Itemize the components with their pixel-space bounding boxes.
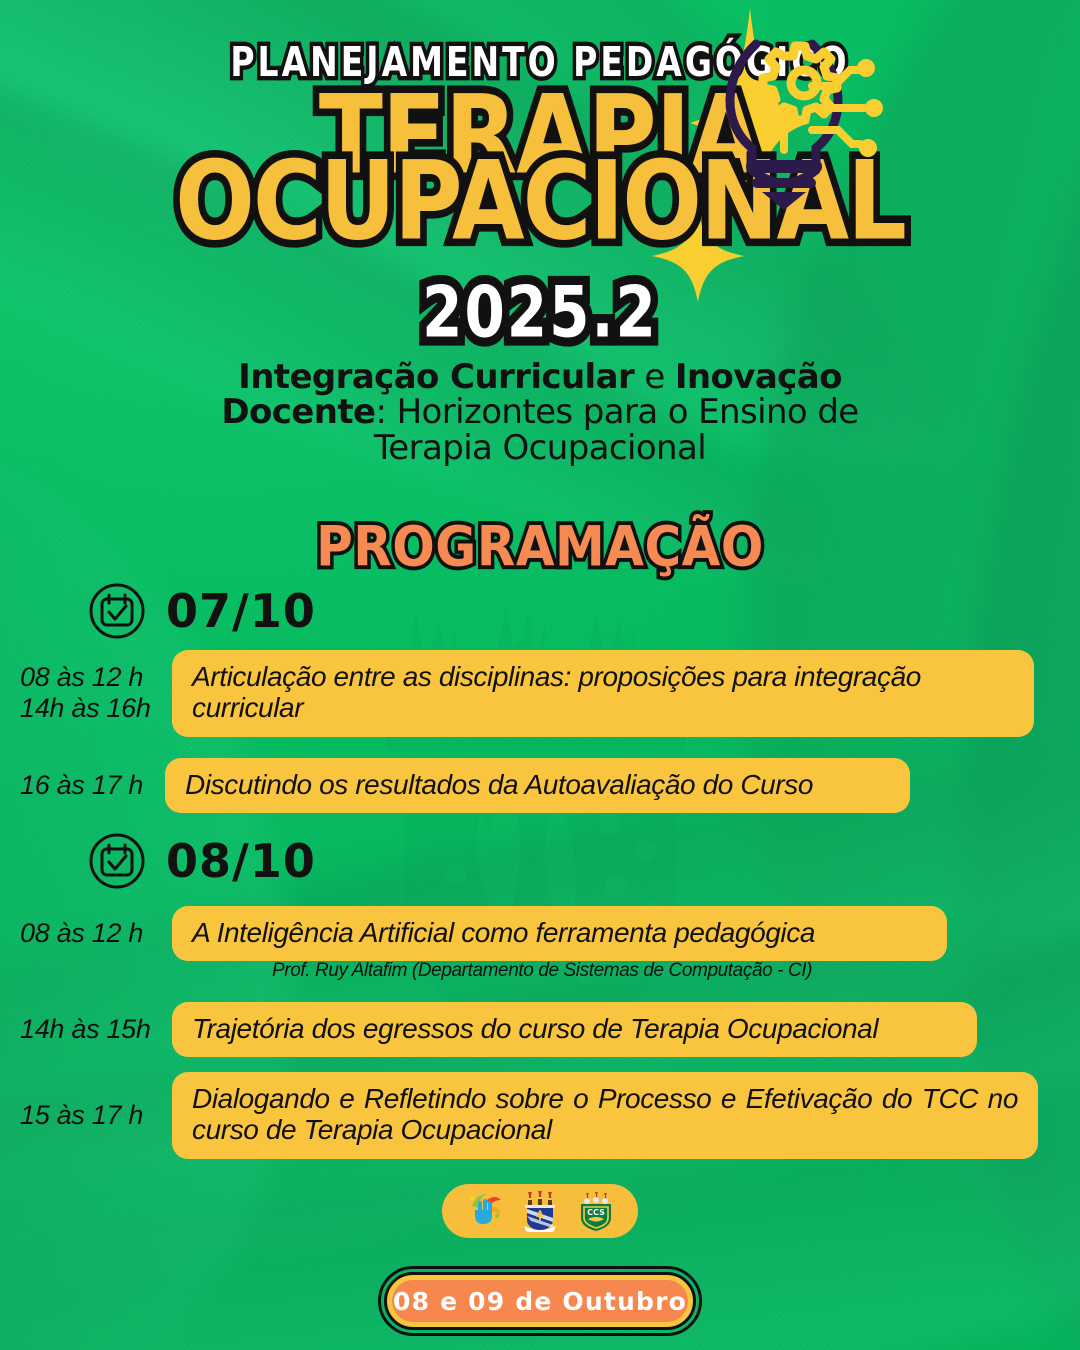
row-title: Articulação entre as disciplinas: propos… (172, 650, 1034, 737)
schedule-row: 16 às 17 h Discutindo os resultados da A… (20, 758, 1040, 813)
subtitle-connector: e (634, 357, 675, 397)
row-time: 08 às 12 h 14h às 16h (20, 662, 172, 724)
calendar-check-icon (88, 582, 146, 640)
event-date-badge: 08 e 09 de Outubro (384, 1272, 696, 1330)
row-time: 14h às 15h (20, 1014, 172, 1045)
row-title: Trajetória dos egressos do curso de Tera… (172, 1002, 977, 1057)
subtitle-bold-1: Integração Curricular (238, 357, 634, 397)
day-header-2: 08/10 (88, 832, 316, 890)
day-label: 07/10 (166, 584, 316, 638)
schedule-row: 08 às 12 h 14h às 16h Articulação entre … (20, 650, 1040, 737)
year-badge: 2025.2 (422, 271, 658, 354)
row-time: 16 às 17 h (20, 770, 165, 801)
hands-paint-logo (463, 1190, 505, 1232)
poster-canvas: SAPIENTIA PLANEJAMENTO PEDAGÓGICO TERAPI… (0, 0, 1080, 1350)
row-title: A Inteligência Artificial como ferrament… (172, 906, 947, 961)
footer-logo-strip: CCS (442, 1184, 638, 1238)
row-title: Discutindo os resultados da Autoavaliaçã… (165, 758, 910, 813)
row-speaker: Prof. Ruy Altafim (Departamento de Siste… (272, 960, 812, 982)
row-time: 08 às 12 h (20, 918, 172, 949)
subtitle-rest: : Horizontes para o Ensino de Terapia Oc… (374, 392, 859, 467)
row-title: Dialogando e Refletindo sobre o Processo… (172, 1072, 1038, 1159)
schedule-row: 08 às 12 h A Inteligência Artificial com… (20, 906, 1040, 961)
row-time: 15 às 17 h (20, 1100, 172, 1131)
event-subtitle: Integração Curricular e Inovação Docente… (190, 360, 890, 466)
calendar-check-icon (88, 832, 146, 890)
schedule-row: 15 às 17 h Dialogando e Refletindo sobre… (20, 1072, 1040, 1159)
title-line-2: OCUPACIONAL (0, 138, 1080, 264)
section-heading: PROGRAMAÇÃO (0, 515, 1080, 579)
lightbulb-gear-circuit-icon (716, 20, 896, 210)
day-label: 08/10 (166, 834, 316, 888)
ccs-crest-logo: CCS (575, 1190, 617, 1232)
svg-text:CCS: CCS (587, 1208, 605, 1217)
ufpb-crest-logo (519, 1190, 561, 1232)
event-date-text: 08 e 09 de Outubro (392, 1280, 688, 1322)
day-header-1: 07/10 (88, 582, 316, 640)
schedule-row: 14h às 15h Trajetória dos egressos do cu… (20, 1002, 1040, 1057)
